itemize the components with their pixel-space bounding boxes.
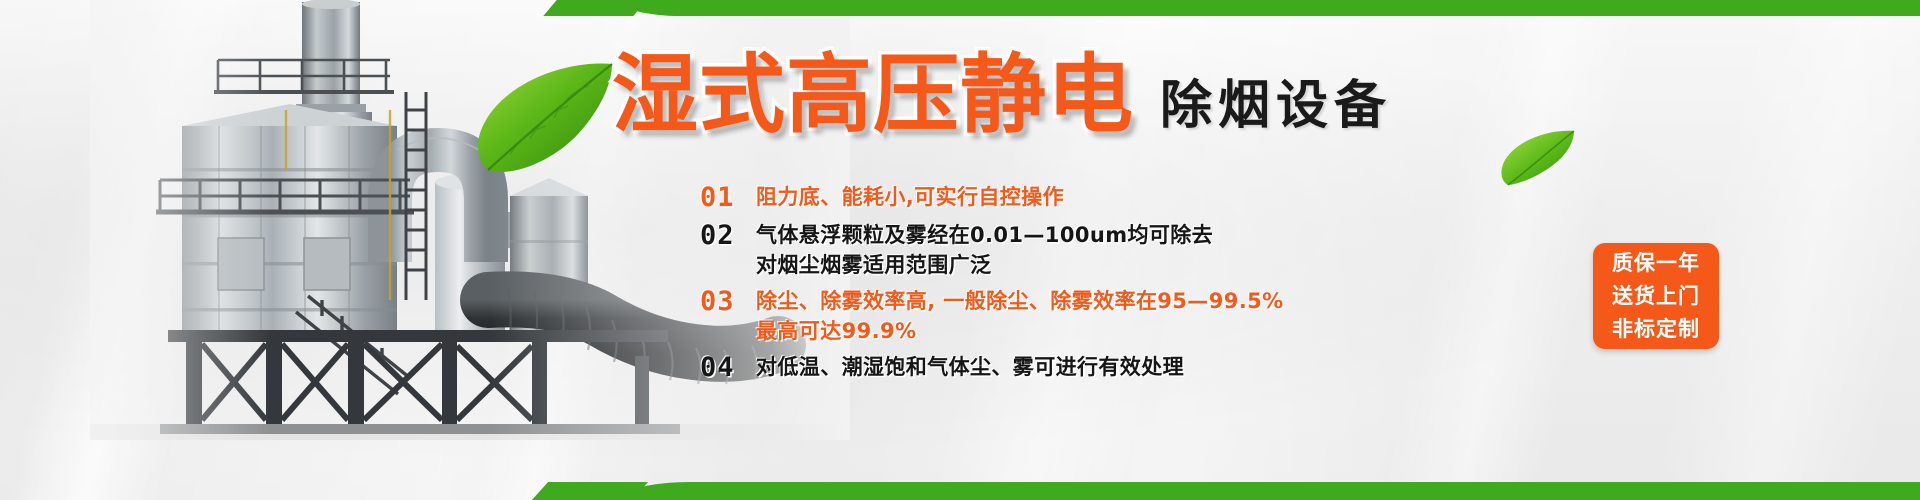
service-guarantee-badge: 质保一年 送货上门 非标定制 (1593, 243, 1719, 349)
feature-text: 阻力底、能耗小,可实行自控操作 (748, 182, 1064, 212)
feature-text: 对低温、潮湿饱和气体尘、雾可进行有效处理 (748, 352, 1184, 382)
feature-text: 除尘、除雾效率高, 一般除尘、除雾效率在95—99.5% 最高可达99.9% (748, 286, 1284, 346)
leaf-icon (470, 58, 620, 182)
feature-line-1: 除尘、除雾效率高, 一般除尘、除雾效率在95—99.5% (756, 289, 1284, 313)
green-accent-bar-bottom (620, 482, 1920, 500)
feature-line-2: 最高可达99.9% (756, 316, 1284, 346)
badge-line-warranty: 质保一年 (1612, 247, 1700, 280)
promo-banner: 湿式高压静电 除烟设备 01 阻力底、能耗小,可实行自控操作 02 气体悬浮颗粒… (0, 0, 1920, 500)
green-accent-bar-top (620, 0, 1920, 16)
feature-item: 01 阻力底、能耗小,可实行自控操作 (700, 182, 1300, 214)
feature-number: 04 (700, 352, 748, 384)
badge-line-custom: 非标定制 (1612, 313, 1700, 346)
feature-item: 04 对低温、潮湿饱和气体尘、雾可进行有效处理 (700, 352, 1300, 384)
feature-line-1: 对低温、潮湿饱和气体尘、雾可进行有效处理 (756, 355, 1184, 379)
feature-text: 气体悬浮颗粒及雾经在0.01—100um均可除去 对烟尘烟雾适用范围广泛 (748, 220, 1213, 280)
feature-line-1: 气体悬浮颗粒及雾经在0.01—100um均可除去 (756, 223, 1213, 247)
page-title: 湿式高压静电 (612, 52, 1134, 138)
feature-item: 02 气体悬浮颗粒及雾经在0.01—100um均可除去 对烟尘烟雾适用范围广泛 (700, 220, 1300, 280)
headline-group: 湿式高压静电 除烟设备 (612, 52, 1392, 138)
feature-number: 01 (700, 182, 748, 214)
leaf-icon (1500, 128, 1578, 190)
feature-number: 03 (700, 286, 748, 318)
feature-number: 02 (700, 220, 748, 252)
feature-line-2: 对烟尘烟雾适用范围广泛 (756, 250, 1213, 280)
badge-line-delivery: 送货上门 (1612, 280, 1700, 313)
page-subtitle: 除烟设备 (1160, 80, 1392, 132)
feature-line-1: 阻力底、能耗小,可实行自控操作 (756, 185, 1064, 209)
feature-list: 01 阻力底、能耗小,可实行自控操作 02 气体悬浮颗粒及雾经在0.01—100… (700, 182, 1300, 390)
feature-item: 03 除尘、除雾效率高, 一般除尘、除雾效率在95—99.5% 最高可达99.9… (700, 286, 1300, 346)
